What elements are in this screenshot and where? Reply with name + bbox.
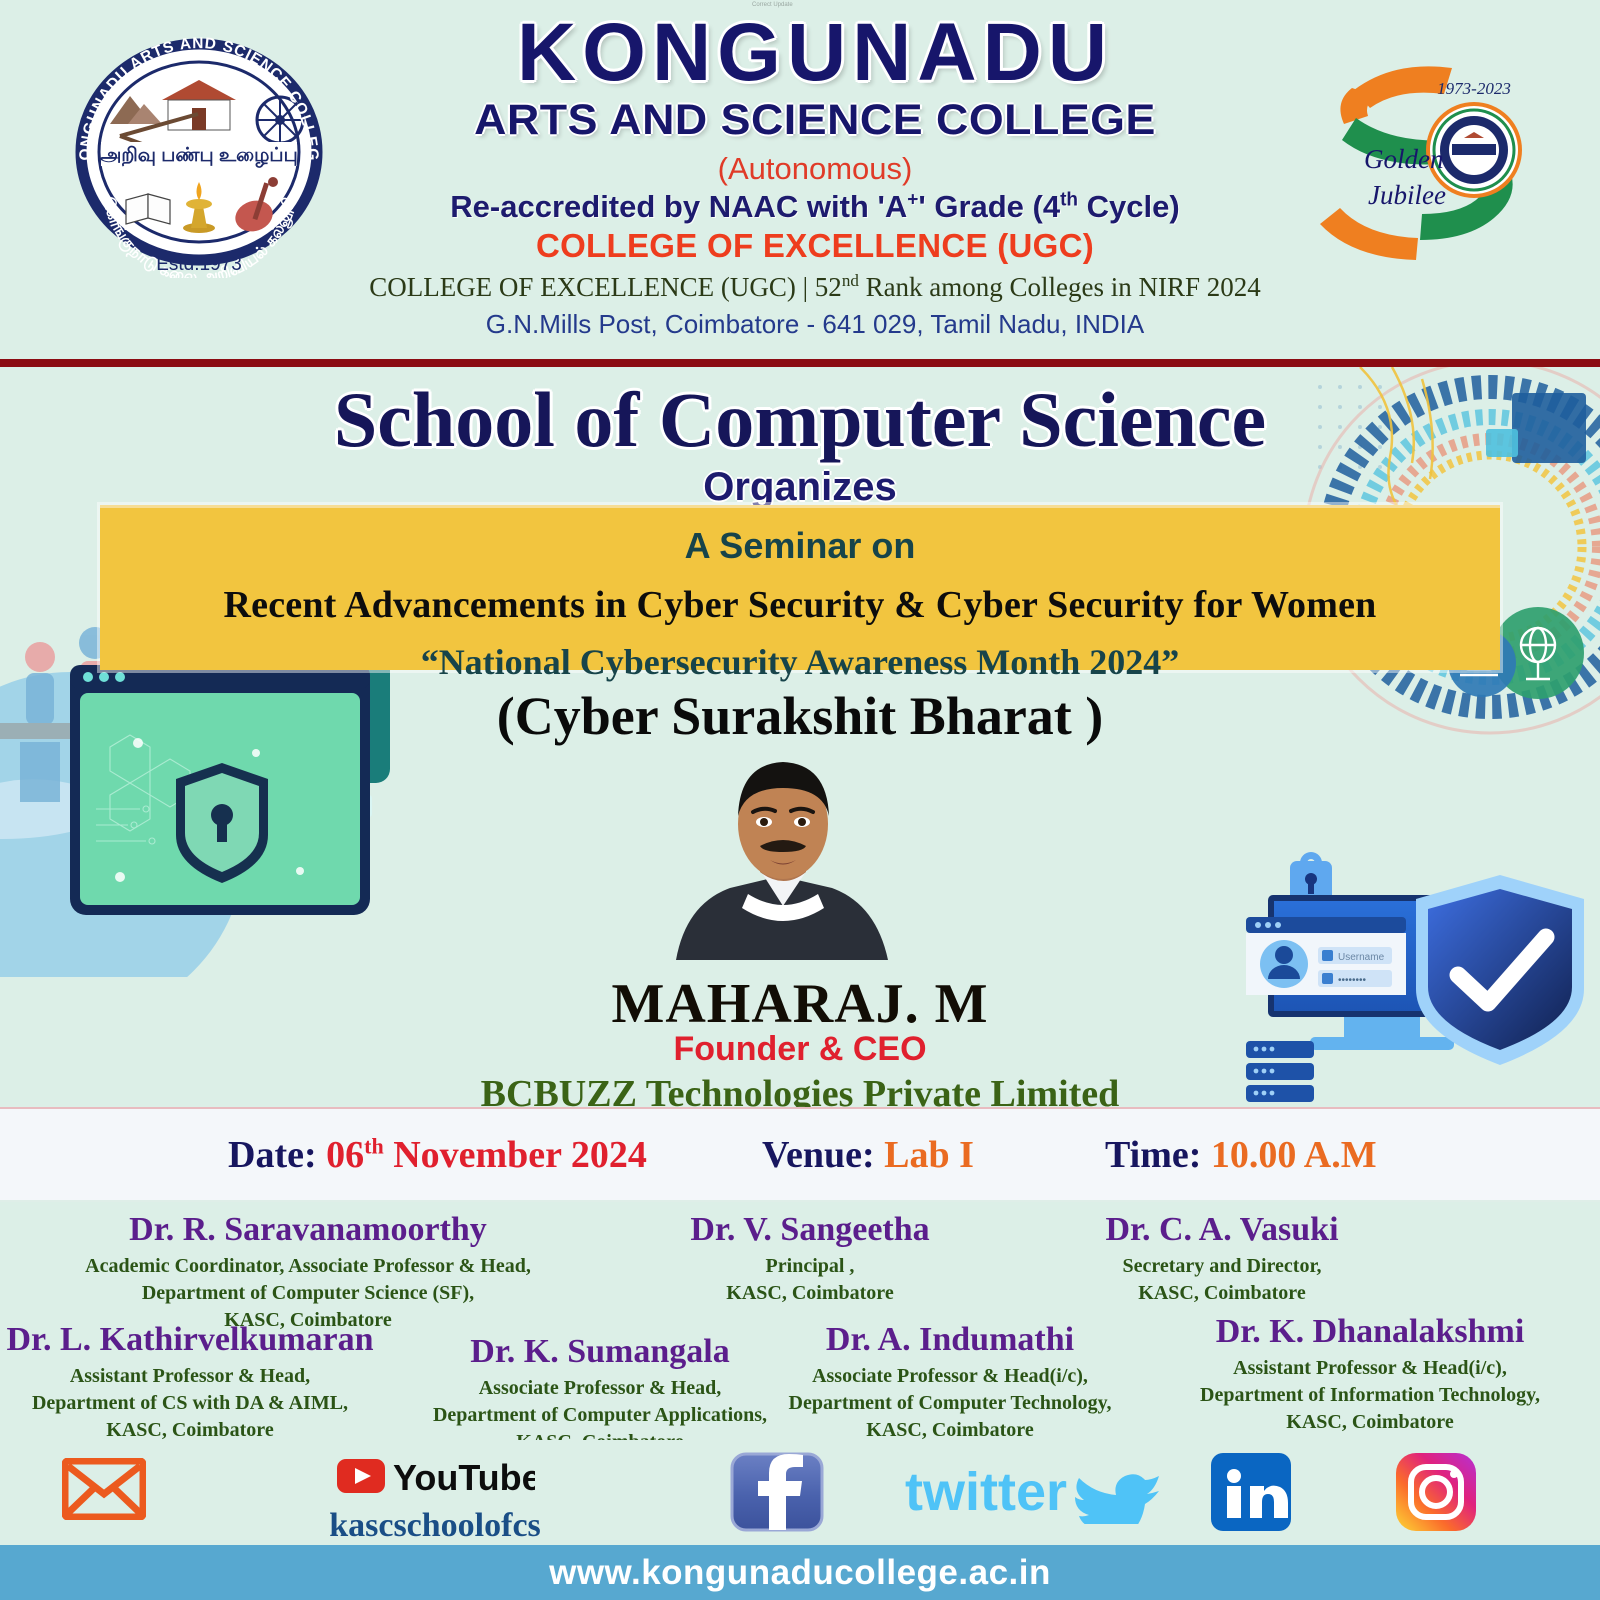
event-venue: Venue: Lab I (762, 1133, 974, 1177)
event-date: Date: 06th November 2024 (228, 1133, 647, 1177)
autonomous-label: (Autonomous) (340, 151, 1290, 187)
speaker-photo (652, 752, 914, 960)
deco-username-label: Username (1338, 952, 1385, 963)
faculty-role: Associate Professor & Head(i/c),Departme… (740, 1363, 1160, 1444)
faculty-list: Dr. R. Saravanamoorthy Academic Coordina… (0, 1202, 1600, 1442)
website-url[interactable]: www.kongunaducollege.ac.in (549, 1553, 1051, 1593)
jubilee-line1: Golden (1364, 144, 1443, 174)
poster-header: Correct Update (0, 0, 1600, 360)
youtube-icon: YouTube (335, 1452, 535, 1500)
naac-accreditation: Re-accredited by NAAC with 'A+' Grade (4… (340, 189, 1290, 225)
faculty-name: Dr. K. Dhanalakshmi (1150, 1312, 1590, 1351)
faculty-name: Dr. V. Sangeetha (610, 1210, 1010, 1249)
event-details-bar: Date: 06th November 2024 Venue: Lab I Ti… (0, 1107, 1600, 1202)
faculty-card: Dr. V. Sangeetha Principal ,KASC, Coimba… (610, 1210, 1010, 1307)
college-of-excellence: COLLEGE OF EXCELLENCE (UGC) (340, 227, 1290, 265)
faculty-name: Dr. C. A. Vasuki (1012, 1210, 1432, 1249)
faculty-card: Dr. K. Dhanalakshmi Assistant Professor … (1150, 1312, 1590, 1436)
social-links-bar: YouTube kascschoolofcs twitter (0, 1440, 1600, 1555)
speaker-name: MAHARAJ. M (0, 972, 1600, 1036)
poster-main: Username •••••••• Scho (0, 367, 1600, 1107)
organizes-label: Organizes (0, 465, 1600, 510)
page-title: School of Computer Science (0, 375, 1600, 465)
college-address: G.N.Mills Post, Coimbatore - 641 029, Ta… (340, 309, 1290, 340)
college-name: KONGUNADU (340, 14, 1290, 92)
linkedin-link[interactable] (1210, 1452, 1292, 1537)
faculty-card: Dr. R. Saravanamoorthy Academic Coordina… (8, 1210, 608, 1334)
poster-root: Correct Update (0, 0, 1600, 1600)
twitter-link[interactable]: twitter (905, 1462, 1165, 1529)
youtube-wordmark: YouTube (393, 1457, 535, 1498)
faculty-role: Assistant Professor & Head(i/c),Departme… (1150, 1355, 1590, 1436)
faculty-card: Dr. L. Kathirvelkumaran Assistant Profes… (0, 1320, 390, 1444)
header-text-block: KONGUNADU ARTS AND SCIENCE COLLEGE (Auto… (340, 14, 1290, 340)
youtube-handle: kascschoolofcs (300, 1507, 570, 1545)
seminar-title: Recent Advancements in Cyber Security & … (100, 583, 1500, 627)
faculty-card: Dr. C. A. Vasuki Secretary and Director,… (1012, 1210, 1432, 1307)
email-link[interactable] (62, 1458, 146, 1525)
speaker-organization: BCBUZZ Technologies Private Limited (0, 1072, 1600, 1107)
college-subtitle: ARTS AND SCIENCE COLLEGE (321, 96, 1309, 145)
college-seal-logo: அறிவு பண்பு உழைப்பு (68, 32, 330, 278)
event-time: Time: 10.00 A.M (1105, 1133, 1377, 1177)
faculty-card: Dr. A. Indumathi Associate Professor & H… (740, 1320, 1160, 1444)
speaker-role: Founder & CEO (0, 1030, 1600, 1069)
linkedin-icon (1210, 1452, 1292, 1532)
seal-estd: Estd.1973 (156, 254, 242, 275)
jubilee-line2: Jubilee (1368, 180, 1446, 210)
header-divider-rule (0, 359, 1600, 367)
faculty-role: Principal ,KASC, Coimbatore (610, 1253, 1010, 1307)
instagram-link[interactable] (1395, 1452, 1477, 1537)
faculty-name: Dr. A. Indumathi (740, 1320, 1160, 1359)
seminar-theme-quote: “National Cybersecurity Awareness Month … (100, 641, 1500, 683)
golden-jubilee-logo: 1973-2023 Golden Jubilee (1292, 32, 1544, 260)
seminar-on-label: A Seminar on (100, 508, 1500, 567)
faculty-role: Assistant Professor & Head,Department of… (0, 1363, 390, 1444)
twitter-wordmark: twitter (905, 1462, 1067, 1522)
instagram-icon (1395, 1452, 1477, 1532)
faculty-name: Dr. L. Kathirvelkumaran (0, 1320, 390, 1359)
campaign-name: (Cyber Surakshit Bharat ) (0, 685, 1600, 747)
nirf-rank: COLLEGE OF EXCELLENCE (UGC) | 52nd Rank … (340, 271, 1290, 303)
faculty-name: Dr. R. Saravanamoorthy (8, 1210, 608, 1249)
footer-bar: www.kongunaducollege.ac.in (0, 1545, 1600, 1600)
seal-motto: அறிவு பண்பு உழைப்பு (100, 145, 297, 168)
facebook-icon (730, 1452, 824, 1532)
facebook-link[interactable] (730, 1452, 824, 1537)
seminar-banner: A Seminar on Recent Advancements in Cybe… (100, 505, 1500, 670)
faculty-role: Secretary and Director,KASC, Coimbatore (1012, 1253, 1432, 1307)
youtube-link[interactable]: YouTube kascschoolofcs (300, 1452, 570, 1545)
jubilee-years: 1973-2023 (1437, 79, 1511, 98)
envelope-icon (62, 1458, 146, 1520)
twitter-icon: twitter (905, 1462, 1165, 1524)
